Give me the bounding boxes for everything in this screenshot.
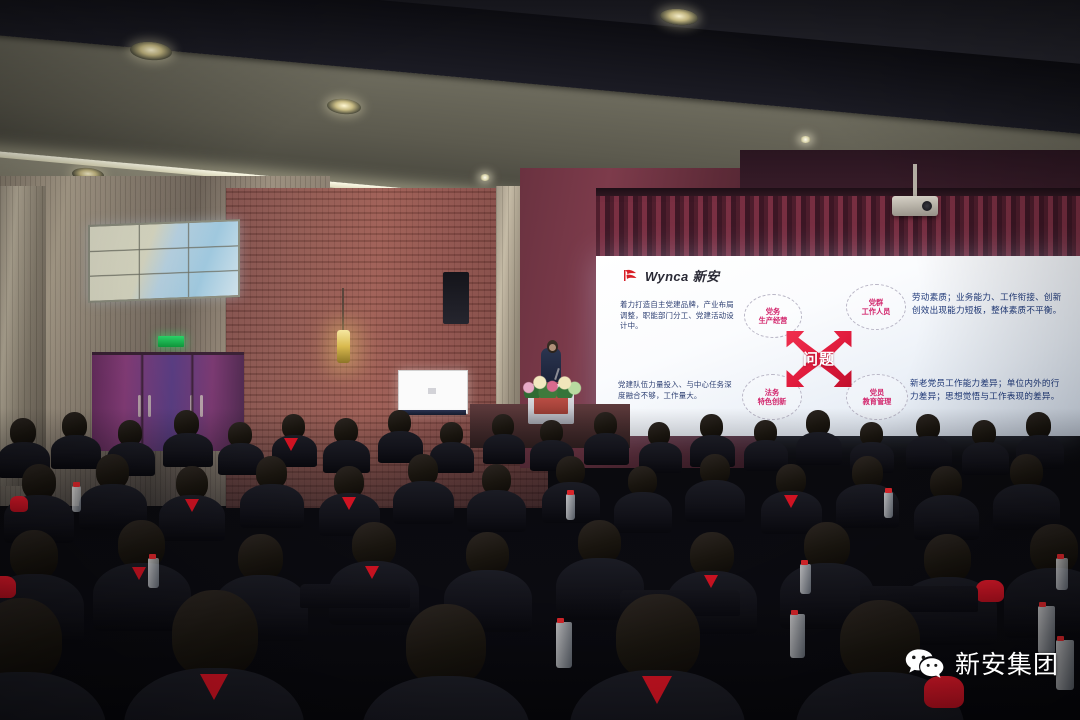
ceiling-spotlight bbox=[480, 174, 490, 181]
water-bottle bbox=[72, 486, 81, 512]
podium-flowers bbox=[520, 372, 582, 398]
party-emblem-icon bbox=[622, 268, 639, 283]
sconce-wire bbox=[342, 288, 344, 332]
water-bottle bbox=[790, 614, 805, 658]
slide-text-top-right: 劳动素质；业务能力、工作衔接、创新创效出现能力短板，整体素质不平衡。 bbox=[912, 292, 1064, 317]
projector-mount bbox=[913, 164, 917, 198]
watermark-account-name: 新安集团 bbox=[955, 645, 1059, 681]
wechat-watermark: 新安集团 bbox=[905, 645, 1059, 681]
control-room-window bbox=[88, 219, 240, 303]
ceiling-downlight bbox=[659, 7, 698, 26]
speaker-face bbox=[549, 344, 556, 351]
circle-line-2: 工作人员 bbox=[862, 307, 891, 317]
water-bottle bbox=[566, 494, 575, 520]
water-bottle bbox=[1056, 558, 1068, 590]
side-monitor-content bbox=[428, 388, 436, 394]
x-center-label: 问题 bbox=[782, 348, 856, 369]
slide-text-bottom-right: 新老党员工作能力差异；单位内外的行力差异；思想觉悟与工作表现的差异。 bbox=[910, 378, 1064, 403]
seat-back bbox=[300, 584, 410, 608]
circle-line-2: 特色创新 bbox=[758, 397, 787, 407]
circle-line-2: 生产经营 bbox=[759, 316, 788, 326]
wall-speaker bbox=[443, 272, 469, 324]
ceiling-spotlight bbox=[800, 136, 811, 143]
conference-hall-photo: Wynca 新安 着力打造自主党建品牌，产业布局调整，职能部门分工、党建活动设计… bbox=[0, 0, 1080, 720]
circle-line-1: 党员 bbox=[870, 388, 884, 398]
projector-lens-icon bbox=[922, 201, 932, 211]
circle-line-1: 党群 bbox=[869, 298, 883, 308]
water-bottle bbox=[148, 558, 159, 588]
slide-text-top-left: 着力打造自主党建品牌，产业布局调整，职能部门分工、党建活动设计中。 bbox=[620, 300, 736, 332]
exit-sign-icon bbox=[158, 336, 184, 347]
circle-line-1: 法务 bbox=[765, 388, 779, 398]
water-bottle bbox=[800, 564, 811, 594]
circle-line-2: 教育管理 bbox=[863, 397, 892, 407]
slide-brand-logo: Wynca 新安 bbox=[622, 266, 719, 285]
water-bottle bbox=[884, 492, 893, 518]
water-bottle bbox=[556, 622, 572, 668]
slide-text-bottom-left: 党建队伍力量投入、与中心任务深度融合不够，工作量大。 bbox=[618, 380, 738, 401]
brand-name: Wynca 新安 bbox=[645, 266, 719, 285]
wall-sconce-light bbox=[337, 330, 350, 363]
slide-circle-top-right: 党群 工作人员 bbox=[846, 284, 906, 330]
circle-line-1: 党务 bbox=[766, 307, 780, 317]
wechat-icon bbox=[905, 647, 945, 679]
